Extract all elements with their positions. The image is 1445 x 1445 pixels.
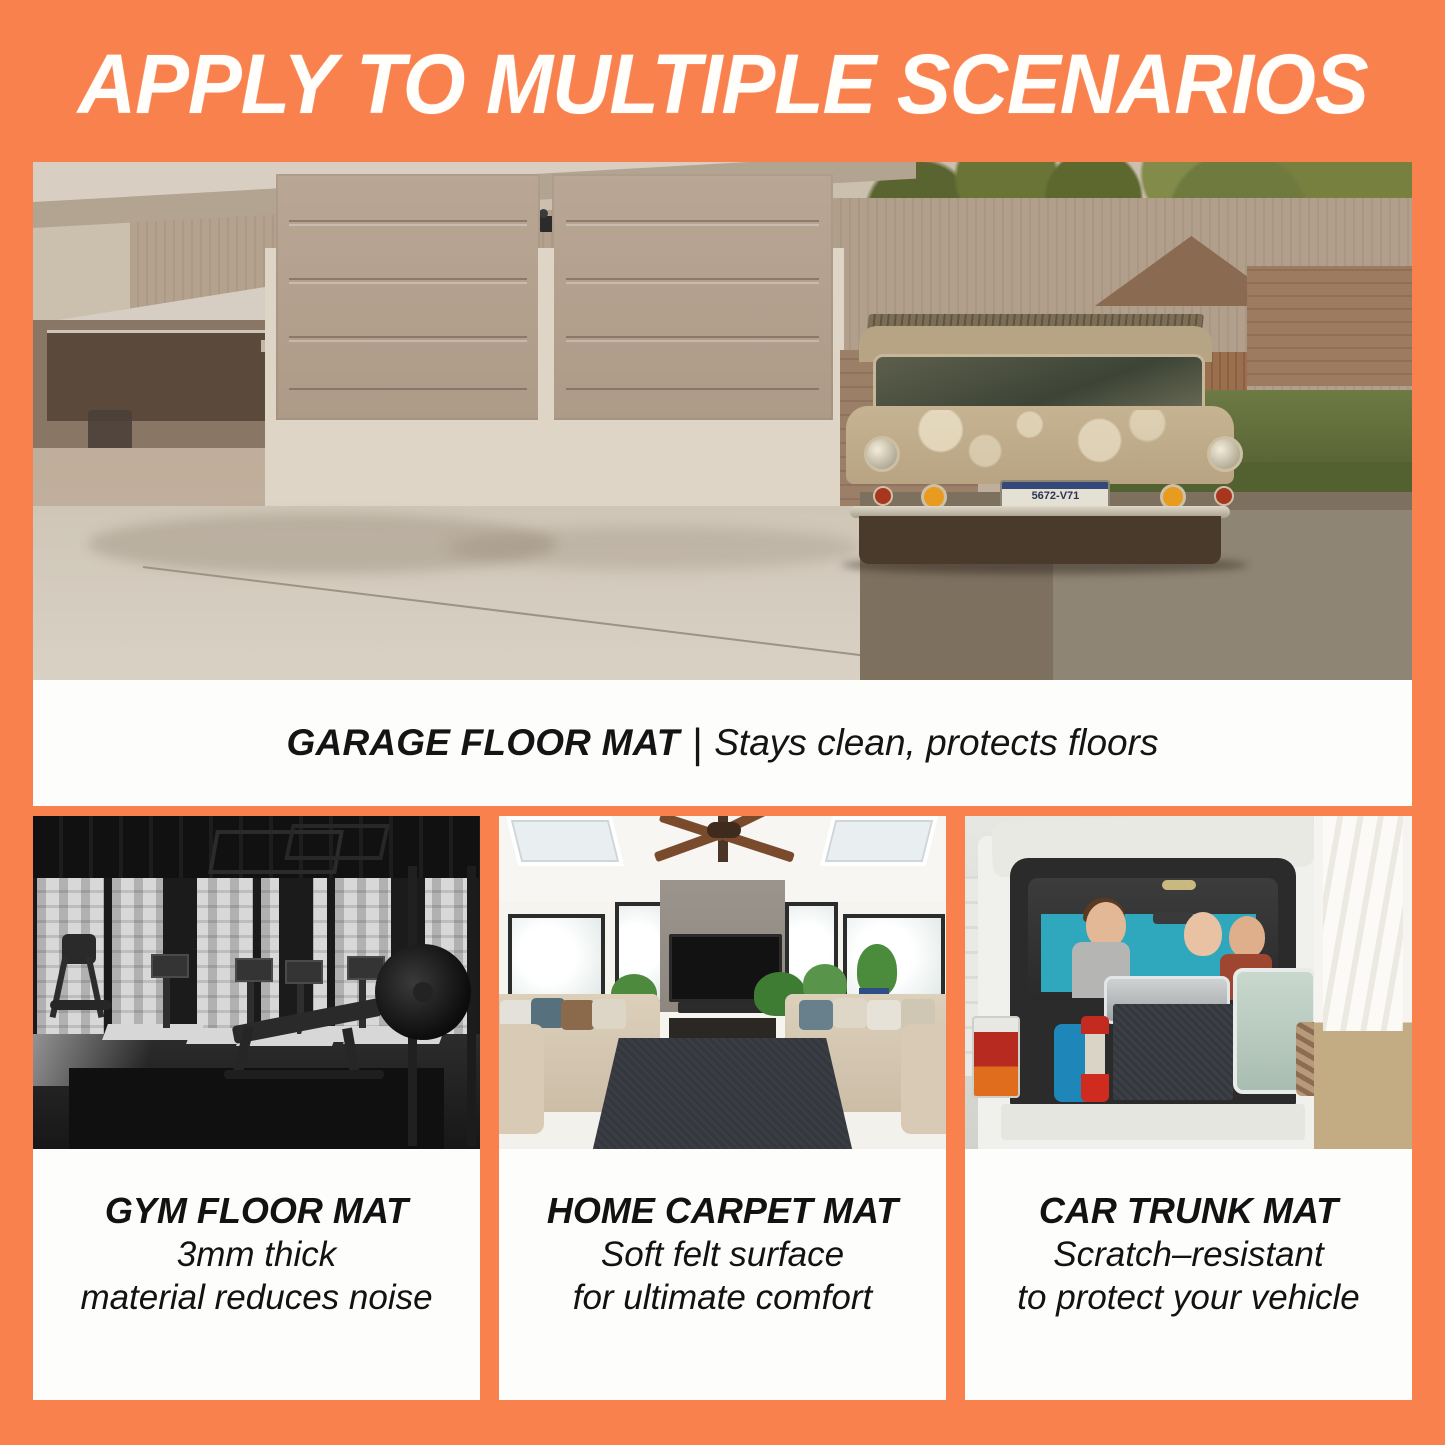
mother-face xyxy=(1184,912,1222,956)
home-caption-line1: Soft felt surface xyxy=(601,1233,844,1276)
scenario-cards-row: GYM FLOOR MAT 3mm thick material reduces… xyxy=(33,816,1412,1400)
license-plate-text: 5672-V71 xyxy=(1002,489,1108,504)
scenario-card-home[interactable]: HOME CARPET MAT Soft felt surface for ul… xyxy=(499,816,946,1400)
gym-caption: GYM FLOOR MAT 3mm thick material reduces… xyxy=(33,1149,480,1400)
trunk-caption-line1: Scratch–resistant xyxy=(1053,1233,1323,1276)
gym-caption-line1: 3mm thick xyxy=(177,1233,336,1276)
scenario-card-gym[interactable]: GYM FLOOR MAT 3mm thick material reduces… xyxy=(33,816,480,1400)
marker-light-left-icon xyxy=(873,486,893,506)
scenario-card-garage[interactable]: 5672-V71 GARAGE FLOOR MAT | Stays clean,… xyxy=(33,162,1412,806)
home-caption-title: HOME CARPET MAT xyxy=(547,1189,898,1233)
skylight-right xyxy=(820,816,939,866)
hexagon-light-fixture xyxy=(284,824,390,860)
marker-light-right-icon xyxy=(1214,486,1234,506)
gym-floor-mat xyxy=(69,1068,444,1149)
neighbor-window xyxy=(47,330,268,421)
living-room-scene-illustration xyxy=(499,816,946,1149)
taillight-icon xyxy=(972,1016,1020,1098)
trunk-caption-title: CAR TRUNK MAT xyxy=(1039,1189,1338,1233)
barbell-weight-plate xyxy=(375,944,471,1040)
garage-photo: 5672-V71 xyxy=(33,162,1412,680)
home-caption-line2: for ultimate comfort xyxy=(573,1276,873,1319)
weight-bench xyxy=(212,998,402,1080)
car-trunk-scene-illustration xyxy=(965,816,1412,1149)
girl-face xyxy=(1229,916,1265,958)
car-lower-body xyxy=(859,516,1221,564)
garage-scene-illustration: 5672-V71 xyxy=(33,162,1412,680)
garage-door-right xyxy=(552,174,833,420)
scenario-card-trunk[interactable]: CAR TRUNK MAT Scratch–resistant to prote… xyxy=(965,816,1412,1400)
car-trunk-photo xyxy=(965,816,1412,1149)
garage-caption-title: GARAGE FLOOR MAT xyxy=(287,722,680,764)
sofa-left-arm xyxy=(499,1024,544,1134)
garage-door-left xyxy=(276,174,541,420)
page-title: APPLY TO MULTIPLE SCENARIOS xyxy=(78,42,1368,126)
dome-light-icon xyxy=(1162,880,1196,890)
gym-photo xyxy=(33,816,480,1149)
caption-separator: | xyxy=(680,720,715,767)
home-caption: HOME CARPET MAT Soft felt surface for ul… xyxy=(499,1149,946,1400)
ceiling-fan-hub xyxy=(707,822,741,838)
garage-caption-text: Stays clean, protects floors xyxy=(714,722,1158,764)
trunk-caption: CAR TRUNK MAT Scratch–resistant to prote… xyxy=(965,1149,1412,1400)
gym-caption-title: GYM FLOOR MAT xyxy=(105,1189,408,1233)
white-shirt-fabric xyxy=(1323,816,1403,1031)
headlight-right-icon xyxy=(1207,436,1243,472)
trunk-caption-line2: to protect your vehicle xyxy=(1017,1276,1359,1319)
driveway-shadow-2 xyxy=(447,526,861,570)
gym-caption-line2: material reduces noise xyxy=(80,1276,432,1319)
rear-bumper xyxy=(1001,1104,1305,1140)
headlight-left-icon xyxy=(864,436,900,472)
camping-lantern xyxy=(1081,1016,1109,1102)
sofa-right-arm xyxy=(901,1024,946,1134)
header-banner: APPLY TO MULTIPLE SCENARIOS xyxy=(0,0,1445,162)
living-room-photo xyxy=(499,816,946,1149)
car-trunk-mat xyxy=(1113,1004,1234,1100)
garage-door-mullion xyxy=(538,248,555,506)
home-carpet-mat xyxy=(593,1038,852,1149)
skylight-left xyxy=(506,816,625,866)
patio-chair xyxy=(88,410,132,448)
window xyxy=(508,914,605,1004)
soundbar xyxy=(678,1002,767,1013)
treadmill xyxy=(105,954,201,1040)
vintage-car: 5672-V71 xyxy=(833,314,1274,574)
garage-caption: GARAGE FLOOR MAT | Stays clean, protects… xyxy=(33,680,1412,806)
sunlight-dapple xyxy=(877,410,1195,476)
gym-scene-illustration xyxy=(33,816,480,1149)
